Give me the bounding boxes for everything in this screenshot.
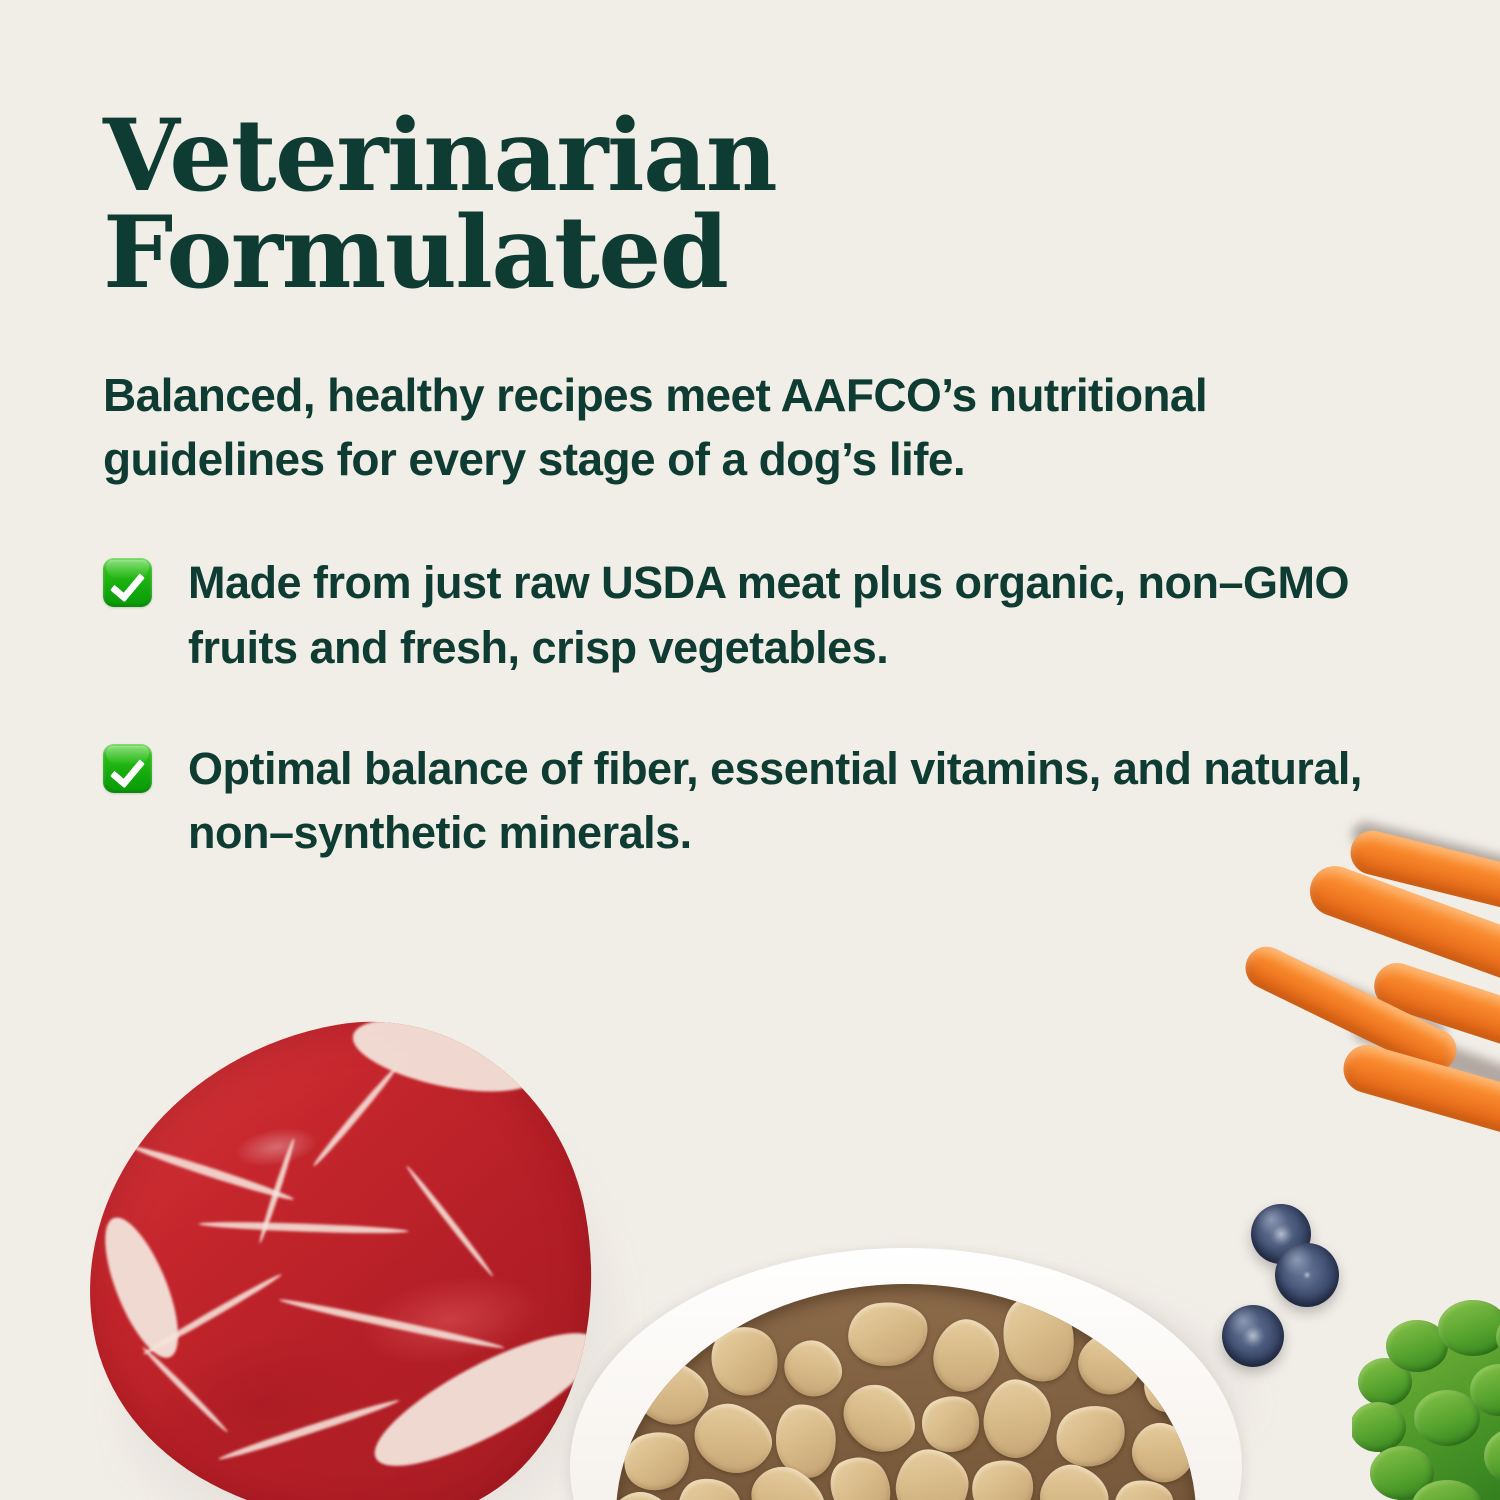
bowl-interior (616, 1284, 1196, 1500)
bowl-of-kibble-photo (560, 1236, 1280, 1500)
check-mark-button-icon (103, 744, 152, 793)
bowl-drop-shadow (585, 1268, 1265, 1500)
list-item: Made from just raw USDA meat plus organi… (103, 551, 1443, 681)
bowl-body (570, 1248, 1242, 1500)
blueberry-2 (1275, 1243, 1339, 1307)
blueberry-crown (1303, 1271, 1312, 1280)
subheading-text: Balanced, healthy recipes meet AAFCO’s n… (103, 364, 1433, 491)
raw-steak-photo (88, 1028, 648, 1500)
blueberry-3 (1222, 1305, 1284, 1367)
product-feature-banner: Veterinarian Formulated Balanced, health… (0, 0, 1500, 1500)
kale-leaf-photo (1352, 1298, 1500, 1500)
list-item: Optimal balance of fiber, essential vita… (103, 737, 1443, 867)
blueberry-crown (1270, 1223, 1292, 1245)
blueberry-crown (1242, 1325, 1264, 1347)
copy-block: Veterinarian Formulated Balanced, health… (103, 108, 1443, 922)
list-item-label: Made from just raw USDA meat plus organi… (188, 551, 1388, 681)
steak-drop-shadow (118, 1058, 638, 1500)
blueberry-1 (1251, 1204, 1311, 1264)
benefit-list: Made from just raw USDA meat plus organi… (103, 551, 1443, 866)
page-title: Veterinarian Formulated (103, 108, 1443, 302)
check-mark-button-icon (103, 558, 152, 607)
steak-body (48, 988, 632, 1500)
list-item-label: Optimal balance of fiber, essential vita… (188, 737, 1388, 867)
